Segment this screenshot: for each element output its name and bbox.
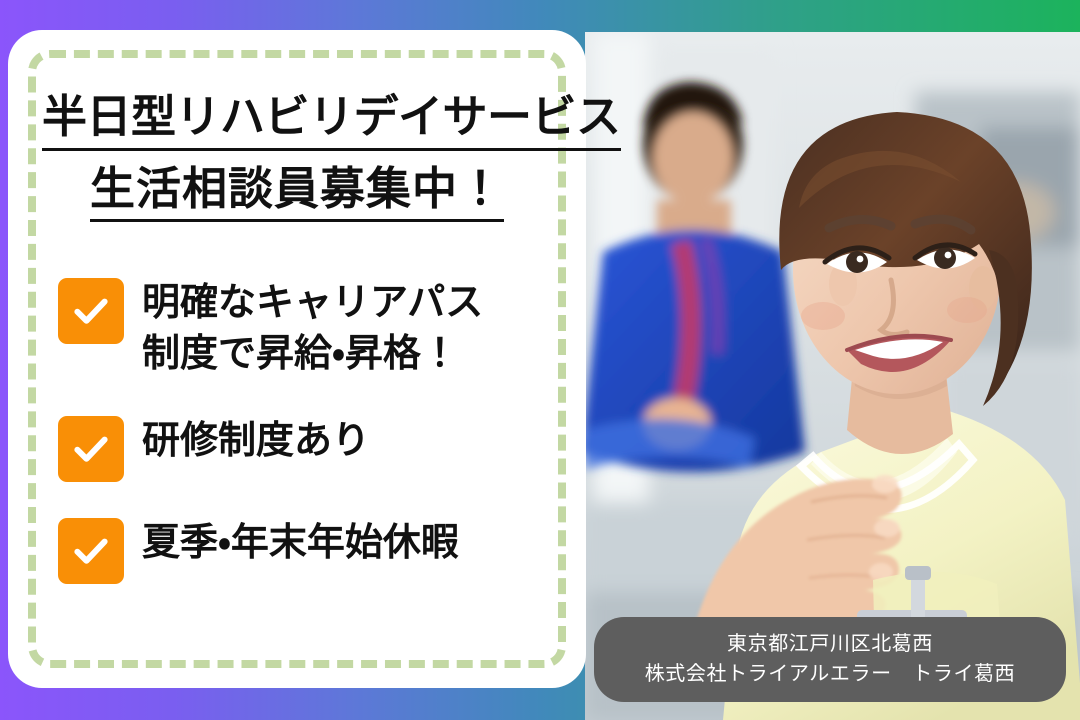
benefits-list: 明確なキャリアパス 制度で昇給・昇格！ 研修制度あり: [42, 276, 552, 584]
caption-address: 東京都江戸川区北葛西: [727, 633, 933, 656]
benefit-text: 明確なキャリアパス 制度で昇給・昇格！: [142, 276, 483, 380]
headline-line-1: 半日型リハビリデイサービス: [42, 88, 621, 151]
benefit-item: 夏季・年末年始休暇: [58, 516, 552, 584]
benefit-item: 研修制度あり: [58, 414, 552, 482]
headline: 半日型リハビリデイサービス 生活相談員募集中！: [42, 88, 552, 222]
check-icon: [58, 518, 124, 584]
location-caption: 東京都江戸川区北葛西 株式会社トライアルエラー トライ葛西: [594, 617, 1066, 702]
benefit-item: 明確なキャリアパス 制度で昇給・昇格！: [58, 276, 552, 380]
job-ad-banner: 東京都江戸川区北葛西 株式会社トライアルエラー トライ葛西 半日型リハビリデイサ…: [0, 0, 1080, 720]
card-content: 半日型リハビリデイサービス 生活相談員募集中！ 明確なキャリアパス 制度で昇給・…: [8, 30, 586, 688]
check-icon: [58, 416, 124, 482]
benefit-text: 研修制度あり: [142, 414, 370, 467]
info-card: 半日型リハビリデイサービス 生活相談員募集中！ 明確なキャリアパス 制度で昇給・…: [8, 30, 586, 688]
check-icon: [58, 278, 124, 344]
headline-line-2: 生活相談員募集中！: [90, 160, 504, 223]
caption-company: 株式会社トライアルエラー トライ葛西: [645, 663, 1016, 686]
benefit-text: 夏季・年末年始休暇: [142, 516, 459, 569]
